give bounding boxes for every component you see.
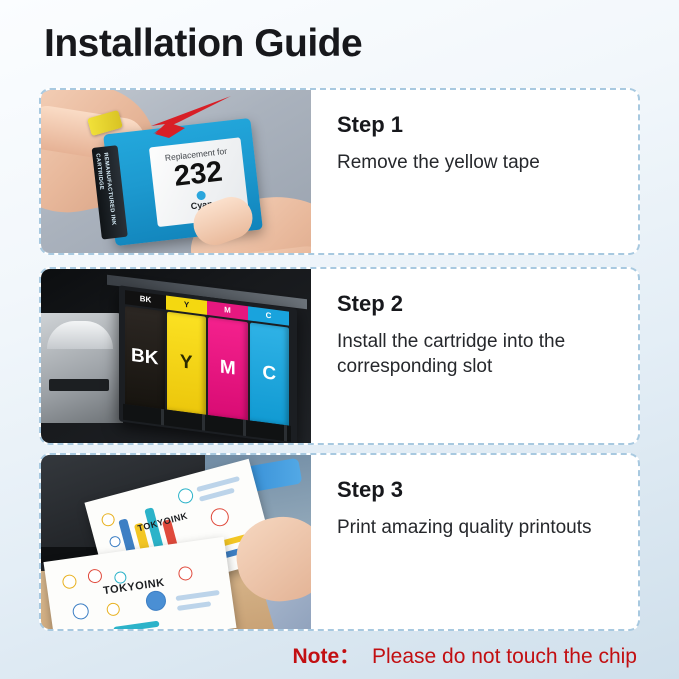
step-1-text: Step 1 Remove the yellow tape — [311, 90, 638, 253]
note-text: Please do not touch the chip — [372, 645, 637, 668]
step-2-description: Install the cartridge into the correspon… — [337, 329, 638, 380]
step-3-description: Print amazing quality printouts — [337, 515, 638, 540]
step-2-heading: Step 2 — [337, 291, 638, 317]
step-1-photo: REMANUFACTURED INK CARTRIDGE Replacement… — [41, 90, 311, 253]
step-card-2: BK Y M C BK Y M C Step 2 Install the car… — [39, 267, 640, 445]
cartridge-c: C — [250, 322, 290, 425]
cartridge-m: M — [208, 317, 248, 420]
note-bar: Note： Please do not touch the chip — [0, 640, 679, 670]
cartridge-bay: BK Y M C BK Y M C — [119, 285, 297, 443]
red-arrow-icon — [139, 94, 231, 152]
step-3-heading: Step 3 — [337, 477, 638, 503]
printer-inner-slot — [49, 379, 109, 391]
step-2-text: Step 2 Install the cartridge into the co… — [311, 269, 638, 443]
step-2-photo: BK Y M C BK Y M C — [41, 269, 311, 443]
step-3-text: Step 3 Print amazing quality printouts — [311, 455, 638, 629]
cartridge-y: Y — [167, 312, 207, 415]
step-card-3: TOKYOINK TOKYOINK Step 3 Print amazing q… — [39, 453, 640, 631]
step-3-photo: TOKYOINK TOKYOINK — [41, 455, 311, 629]
note-label: Note： — [292, 645, 360, 668]
page-title: Installation Guide — [44, 22, 362, 66]
cartridge-bk: BK — [125, 306, 165, 409]
step-1-heading: Step 1 — [337, 112, 638, 138]
step-card-1: REMANUFACTURED INK CARTRIDGE Replacement… — [39, 88, 640, 255]
step-1-description: Remove the yellow tape — [337, 150, 638, 175]
